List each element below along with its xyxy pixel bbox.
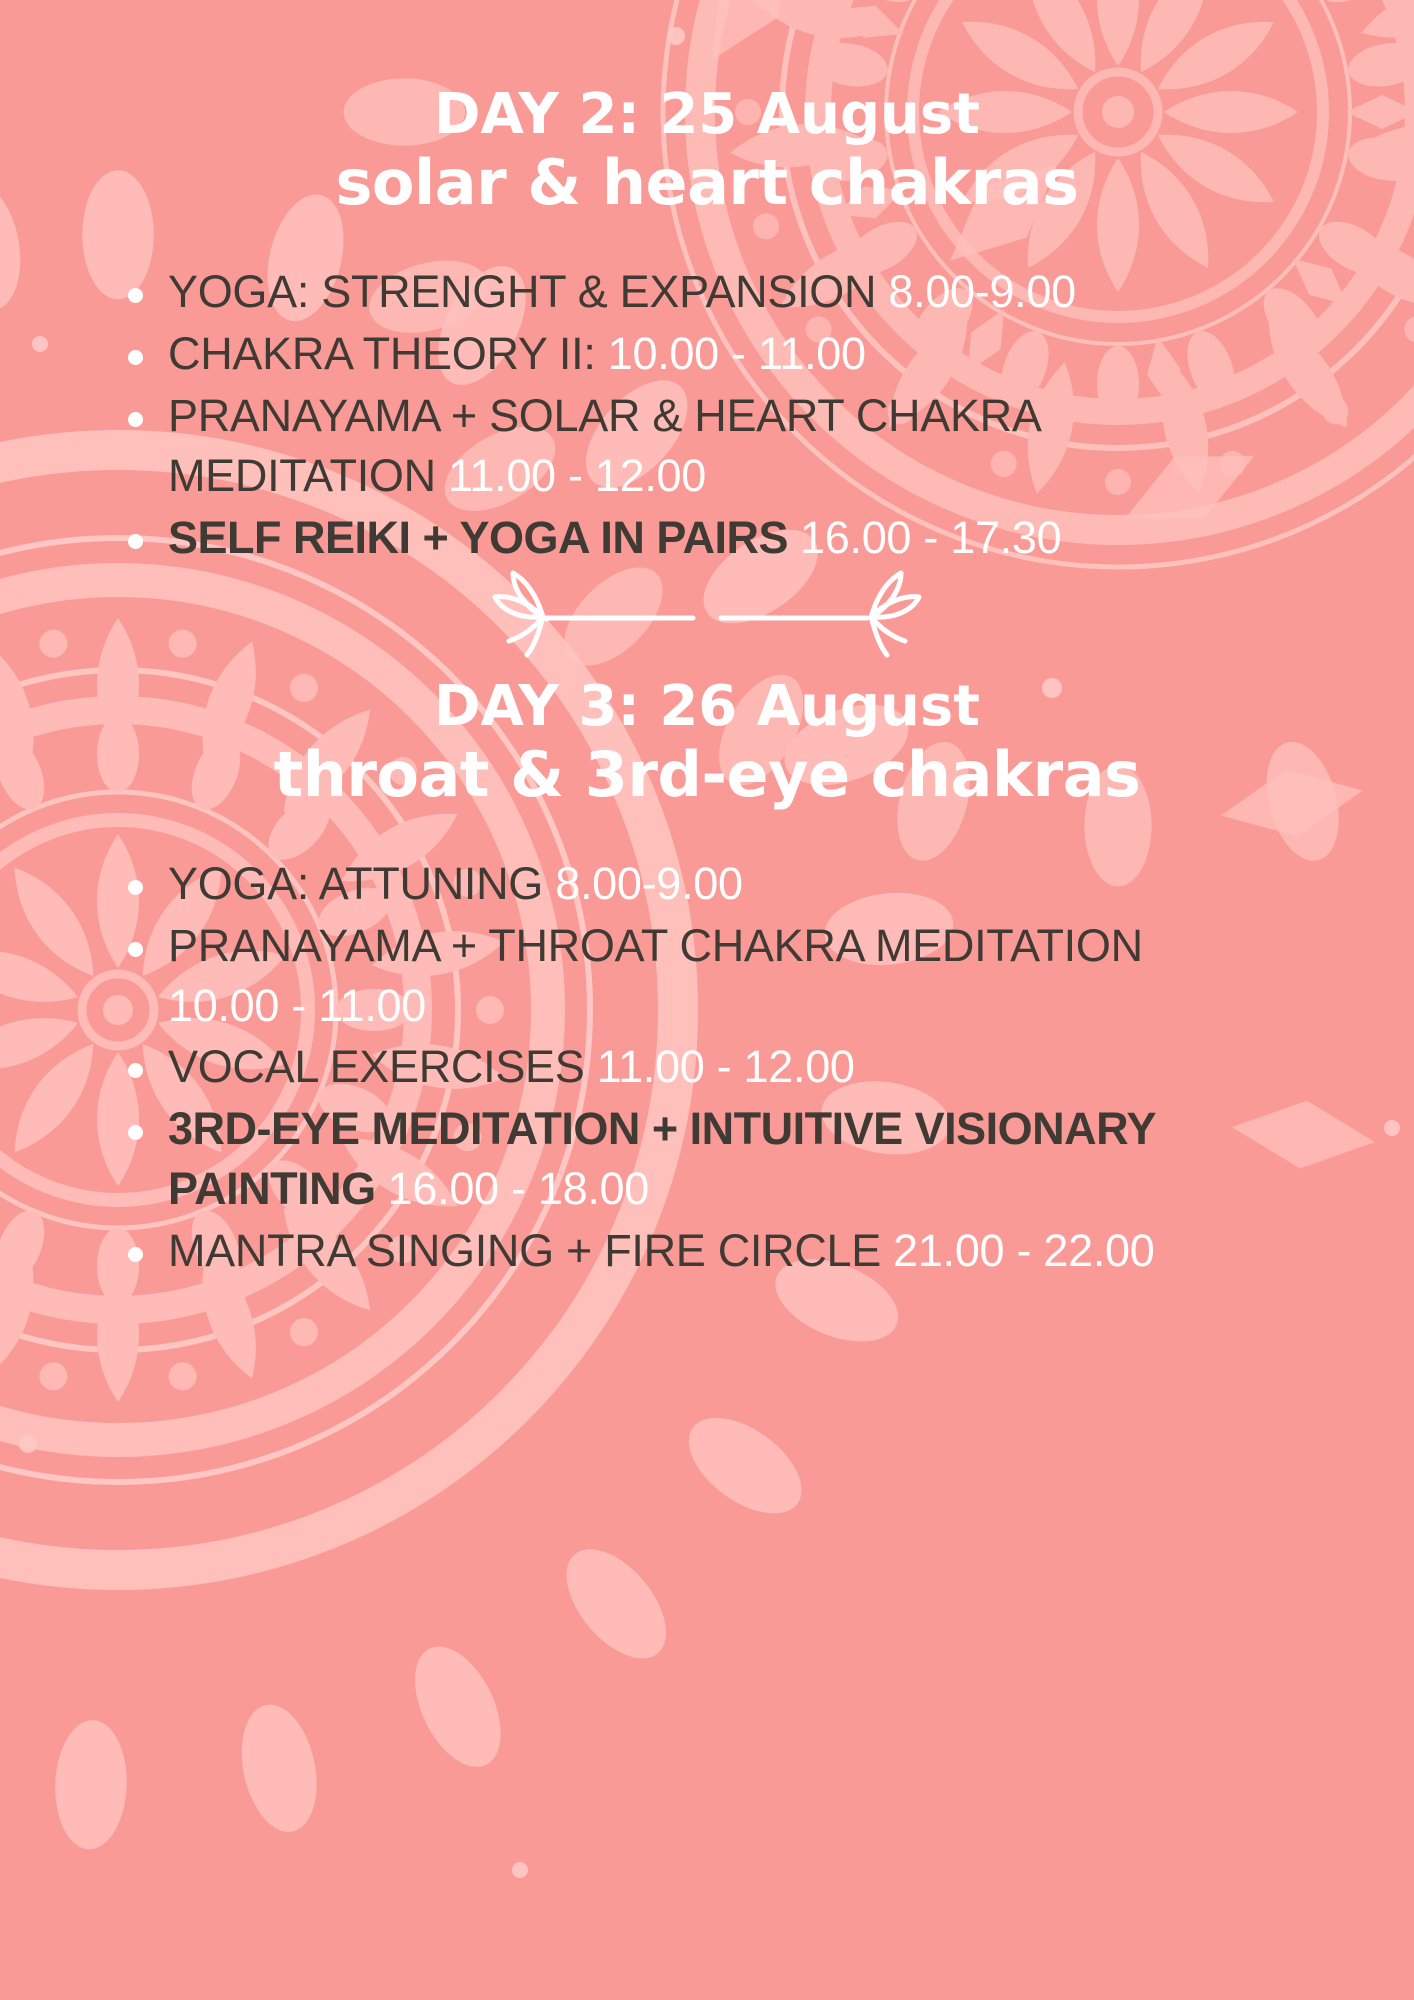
bullet-icon	[128, 880, 143, 895]
bullet-icon	[128, 534, 143, 549]
day3-heading: DAY 3: 26 August throat & 3rd-eye chakra…	[0, 664, 1414, 806]
list-item: YOGA: ATTUNING 8.00-9.00	[120, 854, 1250, 914]
bullet-icon	[128, 1125, 143, 1140]
poster-page: DAY 2: 25 August solar & heart chakras Y…	[0, 0, 1414, 2000]
activity-time: 11.00 - 12.00	[597, 1041, 855, 1092]
bullet-icon	[128, 1063, 143, 1078]
list-item: PRANAYAMA + THROAT CHAKRA MEDITATION 10.…	[120, 916, 1250, 1036]
activity-name: SELF REIKI + YOGA IN PAIRS	[168, 512, 800, 563]
activity-time: 10.00 - 11.00	[608, 328, 866, 379]
activity-name: MANTRA SINGING + FIRE CIRCLE	[168, 1225, 893, 1276]
list-item: VOCAL EXERCISES 11.00 - 12.00	[120, 1037, 1250, 1097]
activity-name: YOGA: ATTUNING	[168, 858, 555, 909]
activity-time: 10.00 - 11.00	[168, 980, 426, 1031]
list-item: PRANAYAMA + SOLAR & HEART CHAKRA MEDITAT…	[120, 386, 1250, 506]
activity-time: 8.00-9.00	[555, 858, 742, 909]
bullet-icon	[128, 288, 143, 303]
day2-heading-line2: solar & heart chakras	[0, 151, 1414, 214]
arrow-leaf-divider-icon	[447, 569, 967, 659]
activity-time: 16.00 - 17.30	[800, 512, 1061, 563]
list-item: YOGA: STRENGHT & EXPANSION 8.00-9.00	[120, 262, 1250, 322]
day2-schedule-list: YOGA: STRENGHT & EXPANSION 8.00-9.00 CHA…	[120, 262, 1250, 567]
bullet-icon	[128, 412, 143, 427]
list-item: 3RD-EYE MEDITATION + INTUITIVE VISIONARY…	[120, 1099, 1250, 1219]
activity-time: 16.00 - 18.00	[388, 1163, 649, 1214]
activity-time: 11.00 - 12.00	[448, 450, 706, 501]
list-item: SELF REIKI + YOGA IN PAIRS 16.00 - 17.30	[120, 508, 1250, 568]
activity-name: YOGA: STRENGHT & EXPANSION	[168, 266, 888, 317]
section-divider	[0, 564, 1414, 664]
day3-schedule-list: YOGA: ATTUNING 8.00-9.00 PRANAYAMA + THR…	[120, 854, 1250, 1281]
list-item: CHAKRA THEORY II: 10.00 - 11.00	[120, 324, 1250, 384]
list-item: MANTRA SINGING + FIRE CIRCLE 21.00 - 22.…	[120, 1221, 1250, 1281]
activity-time: 21.00 - 22.00	[893, 1225, 1154, 1276]
bullet-icon	[128, 350, 143, 365]
activity-name: CHAKRA THEORY II:	[168, 328, 608, 379]
day2-heading-line1: DAY 2: 25 August	[0, 86, 1414, 143]
bullet-icon	[128, 1247, 143, 1262]
day3-heading-line1: DAY 3: 26 August	[0, 678, 1414, 735]
activity-time: 8.00-9.00	[888, 266, 1075, 317]
activity-name: VOCAL EXERCISES	[168, 1041, 597, 1092]
day3-heading-line2: throat & 3rd-eye chakras	[0, 743, 1414, 806]
day2-heading: DAY 2: 25 August solar & heart chakras	[0, 0, 1414, 214]
activity-name: 3RD-EYE MEDITATION + INTUITIVE VISIONARY…	[168, 1103, 1155, 1214]
bullet-icon	[128, 942, 143, 957]
activity-name: PRANAYAMA + THROAT CHAKRA MEDITATION	[168, 920, 1143, 971]
